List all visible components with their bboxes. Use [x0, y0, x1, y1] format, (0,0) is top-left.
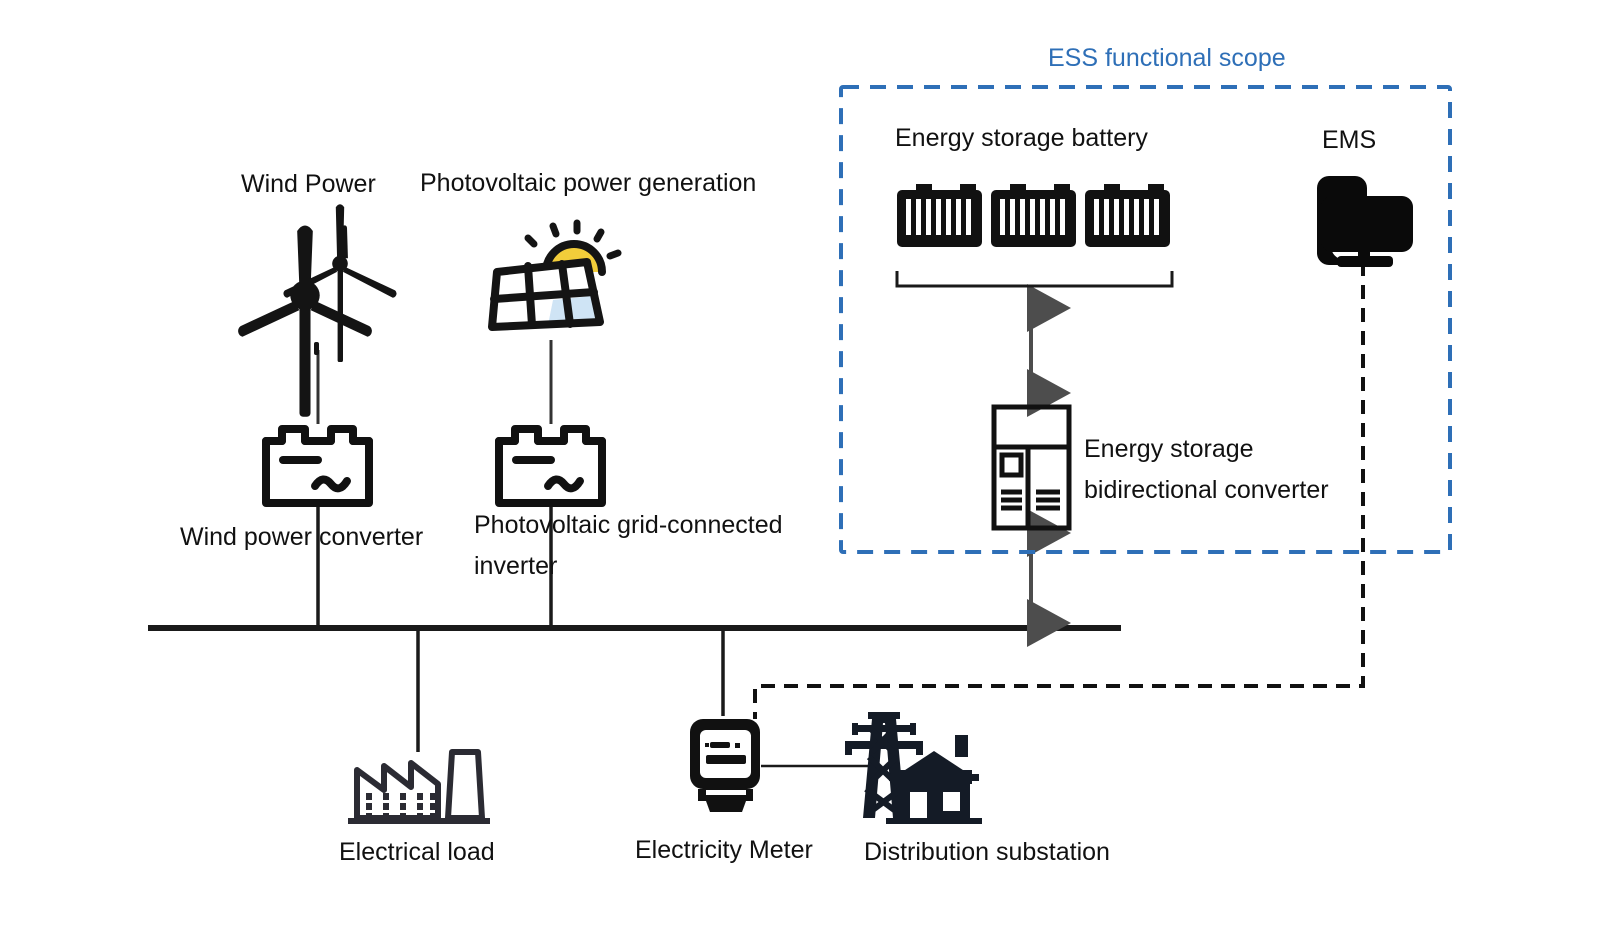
wind-turbine-icon — [238, 204, 396, 417]
converter-cabinet-icon — [994, 407, 1069, 528]
label-pv-inverter-line2: inverter — [474, 550, 557, 583]
label-energy-storage-battery: Energy storage battery — [895, 122, 1148, 155]
computer-server-icon — [1317, 176, 1413, 267]
diagram-canvas: ESS functional scope Wind Power Photovol… — [0, 0, 1599, 926]
label-electricity-meter: Electricity Meter — [635, 834, 813, 867]
power-converter-icon-pv — [499, 429, 602, 503]
label-electrical-load: Electrical load — [339, 836, 495, 869]
label-ems: EMS — [1322, 124, 1376, 157]
solar-panel-icon — [492, 223, 618, 327]
label-wind-power-converter: Wind power converter — [180, 521, 423, 554]
label-pv-inverter-line1: Photovoltaic grid-connected — [474, 509, 783, 542]
label-bidirectional-converter-line2: bidirectional converter — [1084, 474, 1329, 507]
electricity-meter-icon — [690, 719, 760, 812]
ess-scope-title: ESS functional scope — [1048, 42, 1286, 75]
battery-unit — [1085, 184, 1170, 247]
battery-pack-icon — [897, 183, 1170, 247]
battery-unit — [897, 183, 982, 247]
label-pv-generation: Photovoltaic power generation — [420, 167, 756, 200]
power-converter-icon-wind — [266, 429, 369, 503]
battery-unit — [991, 184, 1076, 247]
label-wind-power: Wind Power — [241, 168, 376, 201]
factory-icon — [348, 752, 490, 824]
label-bidirectional-converter-line1: Energy storage — [1084, 433, 1254, 466]
label-distribution-substation: Distribution substation — [864, 836, 1110, 869]
pylon-house-icon — [845, 712, 982, 824]
